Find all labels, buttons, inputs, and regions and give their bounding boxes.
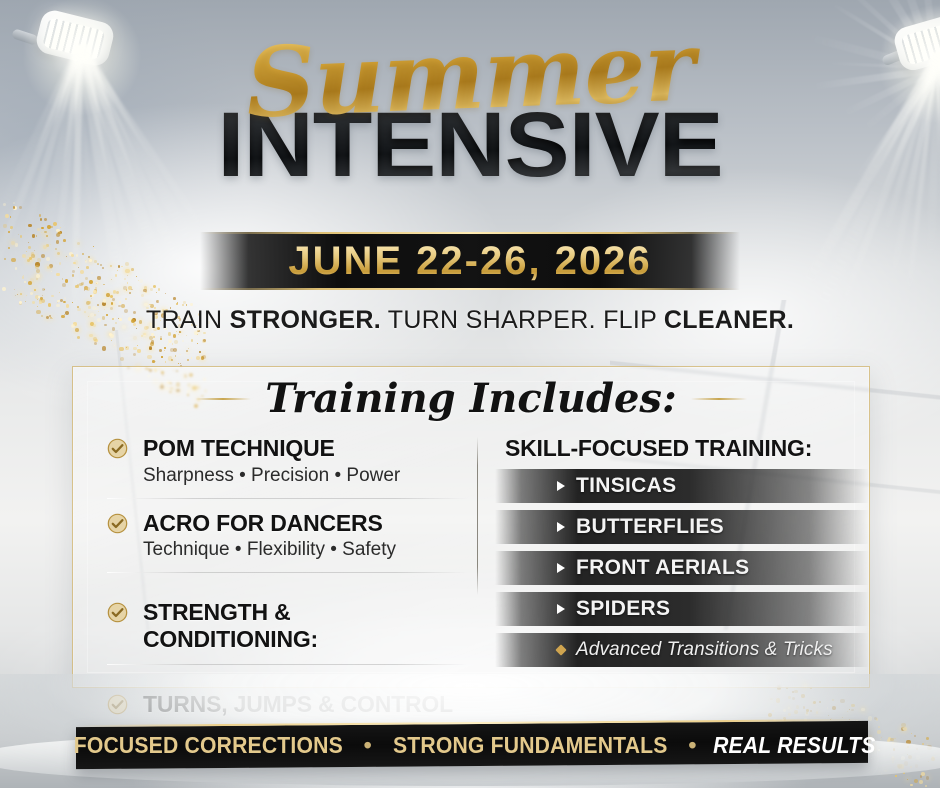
card-columns: POM TECHNIQUE Sharpness • Precision • Po…: [73, 435, 869, 687]
skill-label: BUTTERFLIES: [576, 515, 724, 539]
skill-row: SPIDERS: [495, 592, 869, 626]
date-banner: JUNE 22-26, 2026: [200, 232, 740, 290]
tagline-part-1: TRAIN: [146, 306, 230, 334]
includes-header: Training Includes:: [73, 375, 869, 422]
gold-rule-right: [691, 398, 747, 400]
divider: [107, 572, 467, 573]
spacer: [107, 584, 467, 599]
list-item: POM TECHNIQUE Sharpness • Precision • Po…: [107, 435, 467, 487]
skill-row: TINSICAS: [495, 469, 869, 503]
divider: [107, 664, 467, 665]
date-text: JUNE 22-26, 2026: [288, 239, 651, 284]
right-column: SKILL-FOCUSED TRAINING: TINSICAS BUTTERF…: [477, 435, 869, 687]
list-item: STRENGTH & CONDITIONING:: [107, 599, 467, 652]
skill-row: BUTTERFLIES: [495, 510, 869, 544]
tagline: TRAIN STRONGER. TURN SHARPER. FLIP CLEAN…: [0, 306, 940, 335]
triangle-bullet-icon: [557, 522, 565, 532]
triangle-bullet-icon: [557, 481, 565, 491]
check-circle-icon: [107, 602, 128, 623]
check-circle-icon: [107, 438, 128, 459]
footer-text: FOCUSED CORRECTIONS•STRONG FUNDAMENTALS•…: [62, 732, 882, 759]
poster-canvas: Summer INTENSIVE JUNE 22-26, 2026 TRAIN …: [0, 0, 940, 788]
list-item-sub: Technique • Flexibility • Safety: [143, 539, 467, 561]
skill-label: TINSICAS: [576, 474, 676, 498]
check-circle-icon: [107, 513, 128, 534]
skill-label: Advanced Transitions & Tricks: [576, 639, 833, 661]
footer-banner: FOCUSED CORRECTIONS•STRONG FUNDAMENTALS•…: [76, 721, 868, 769]
divider: [107, 498, 467, 499]
skill-section-title: SKILL-FOCUSED TRAINING:: [495, 435, 869, 462]
tagline-part-2: TURN SHARPER. FLIP: [381, 306, 664, 334]
footer-part-1: FOCUSED CORRECTIONS: [74, 732, 343, 759]
triangle-bullet-icon: [557, 563, 565, 573]
footer-part-3: REAL RESULTS: [713, 732, 875, 759]
skill-row: Advanced Transitions & Tricks: [495, 633, 869, 667]
diamond-bullet-icon: [555, 644, 566, 655]
list-item-title: STRENGTH & CONDITIONING:: [143, 599, 467, 652]
list-item-title: POM TECHNIQUE: [143, 435, 467, 462]
triangle-bullet-icon: [557, 604, 565, 614]
footer-dot-2: •: [688, 732, 696, 758]
footer-part-2: STRONG FUNDAMENTALS: [393, 732, 668, 759]
list-item-title: ACRO FOR DANCERS: [143, 510, 467, 537]
list-item-sub: Sharpness • Precision • Power: [143, 465, 467, 487]
tagline-bold-1: STRONGER.: [230, 306, 381, 334]
footer-dot-1: •: [363, 732, 371, 758]
includes-title: Training Includes:: [265, 375, 676, 422]
tagline-bold-2: CLEANER.: [664, 306, 794, 334]
skill-label: SPIDERS: [576, 597, 670, 621]
training-card: Training Includes: POM TECHNIQUE Sharpne…: [72, 366, 870, 688]
gold-rule-left: [195, 398, 251, 400]
skill-label: FRONT AERIALS: [576, 556, 749, 580]
left-column: POM TECHNIQUE Sharpness • Precision • Po…: [73, 435, 477, 687]
skill-row: FRONT AERIALS: [495, 551, 869, 585]
list-item: ACRO FOR DANCERS Technique • Flexibility…: [107, 510, 467, 562]
column-divider: [477, 437, 478, 595]
headline-block: Summer INTENSIVE: [0, 34, 940, 191]
